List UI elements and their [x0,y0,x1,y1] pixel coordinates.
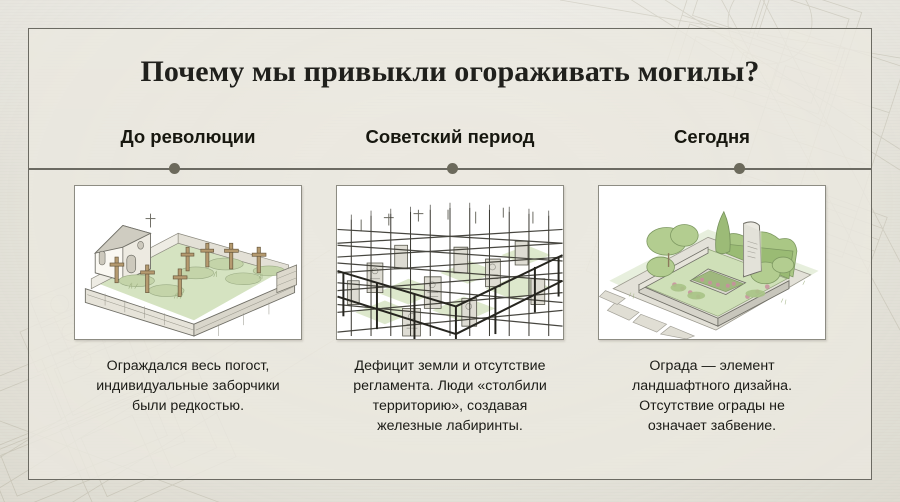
timeline-marker-today [734,163,745,174]
page-title: Почему мы привыкли огораживать могилы? [29,55,871,89]
column-header-soviet-period: Советский период [319,125,581,155]
timeline-marker-soviet-period [447,163,458,174]
timeline-marker-pre-revolution [169,163,180,174]
slide-canvas: Почему мы привыкли огораживать могилы? Д… [0,0,900,502]
caption-pre-revolution: Ограждался весь погост, индивидуальные з… [96,356,280,416]
column-today: Ограда — элемент ландшафтного дизайна. О… [581,185,843,469]
column-soviet-period: Дефицит земли и отсутствие регламента. Л… [319,185,581,469]
illustration-fence-maze [336,185,564,340]
caption-today: Ограда — элемент ландшафтного дизайна. О… [632,356,792,436]
column-header-today: Сегодня [581,125,843,155]
timeline [29,163,871,175]
caption-soviet-period: Дефицит земли и отсутствие регламента. Л… [353,356,547,436]
column-headers-row: До революции Советский период Сегодня [57,125,843,155]
illustration-modern-grave [598,185,826,340]
columns-row: Ограждался весь погост, индивидуальные з… [57,185,843,469]
column-header-pre-revolution: До революции [57,125,319,155]
illustration-churchyard [74,185,302,340]
column-pre-revolution: Ограждался весь погост, индивидуальные з… [57,185,319,469]
content-frame: Почему мы привыкли огораживать могилы? Д… [28,28,872,480]
